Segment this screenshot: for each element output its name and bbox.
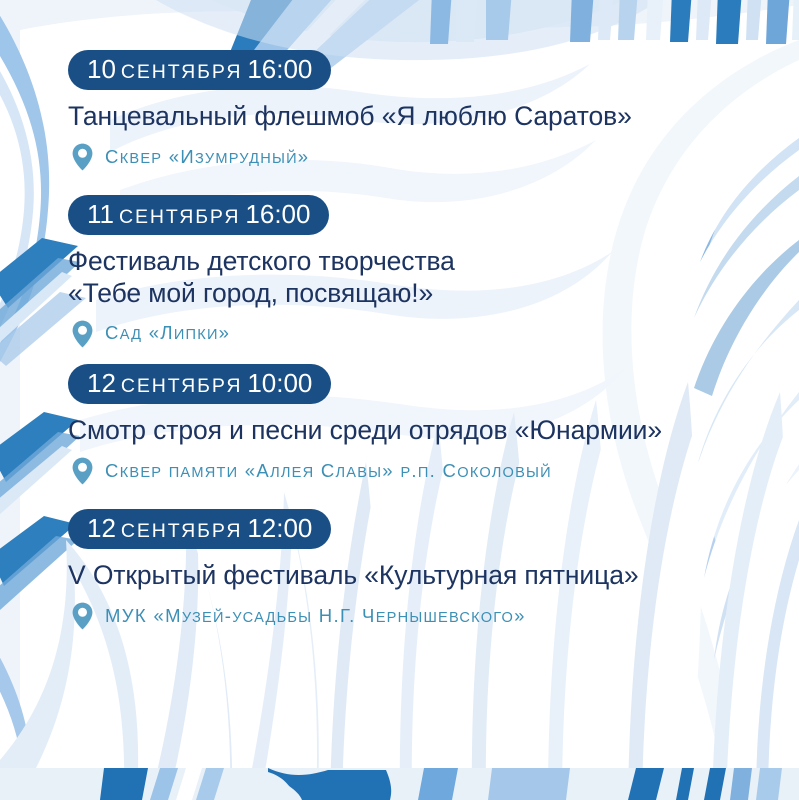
event-item: 10сентября16:00 Танцевальный флешмоб «Я … [68,50,632,171]
venue-text: МУК «МУЗЕЙ-УСАДЬБЫ Н.Г. ЧЕРНЫШЕВСКОГО» [105,606,526,626]
event-title: Фестиваль детского творчества «Тебе мой … [68,246,455,310]
event-title: Смотр строя и песни среди отрядов «Юнарм… [68,415,662,447]
venue-text: САД «ЛИПКИ» [105,323,230,343]
date-time: 12:00 [247,513,312,543]
map-pin-icon [72,143,93,171]
event-schedule-poster: 10сентября16:00 Танцевальный флешмоб «Я … [0,0,799,800]
map-pin-icon [72,602,93,630]
date-time: 10:00 [247,368,312,398]
map-pin-icon [72,457,93,485]
event-item: 11сентября16:00 Фестиваль детского творч… [68,195,455,348]
date-time: 16:00 [245,199,310,229]
date-badge: 10сентября16:00 [68,50,331,90]
event-title: V Открытый фестиваль «Культурная пятница… [68,560,638,592]
event-list-container: 10сентября16:00 Танцевальный флешмоб «Я … [0,0,799,800]
date-month: сентября [121,61,242,83]
date-badge: 12сентября12:00 [68,509,331,549]
date-month: сентября [119,206,240,228]
event-item: 12сентября12:00 V Открытый фестиваль «Ку… [68,509,638,630]
event-title: Танцевальный флешмоб «Я люблю Саратов» [68,101,632,133]
date-time: 16:00 [247,54,312,84]
date-day: 12 [87,513,116,543]
date-day: 11 [87,199,114,229]
date-month: сентября [121,375,242,397]
map-pin-icon [72,320,93,348]
venue-row: МУК «МУЗЕЙ-УСАДЬБЫ Н.Г. ЧЕРНЫШЕВСКОГО» [72,602,638,630]
event-item: 12сентября10:00 Смотр строя и песни сред… [68,364,662,485]
date-month: сентября [121,520,242,542]
date-badge: 12сентября10:00 [68,364,331,404]
venue-text: СКВЕР ПАМЯТИ «АЛЛЕЯ СЛАВЫ» Р.П. СОКОЛОВЫ… [105,461,552,481]
venue-text: СКВЕР «ИЗУМРУДНЫЙ» [105,147,309,167]
venue-row: СКВЕР ПАМЯТИ «АЛЛЕЯ СЛАВЫ» Р.П. СОКОЛОВЫ… [72,457,662,485]
date-badge: 11сентября16:00 [68,195,329,235]
venue-row: САД «ЛИПКИ» [72,320,455,348]
date-day: 10 [87,54,116,84]
date-day: 12 [87,368,116,398]
venue-row: СКВЕР «ИЗУМРУДНЫЙ» [72,143,632,171]
